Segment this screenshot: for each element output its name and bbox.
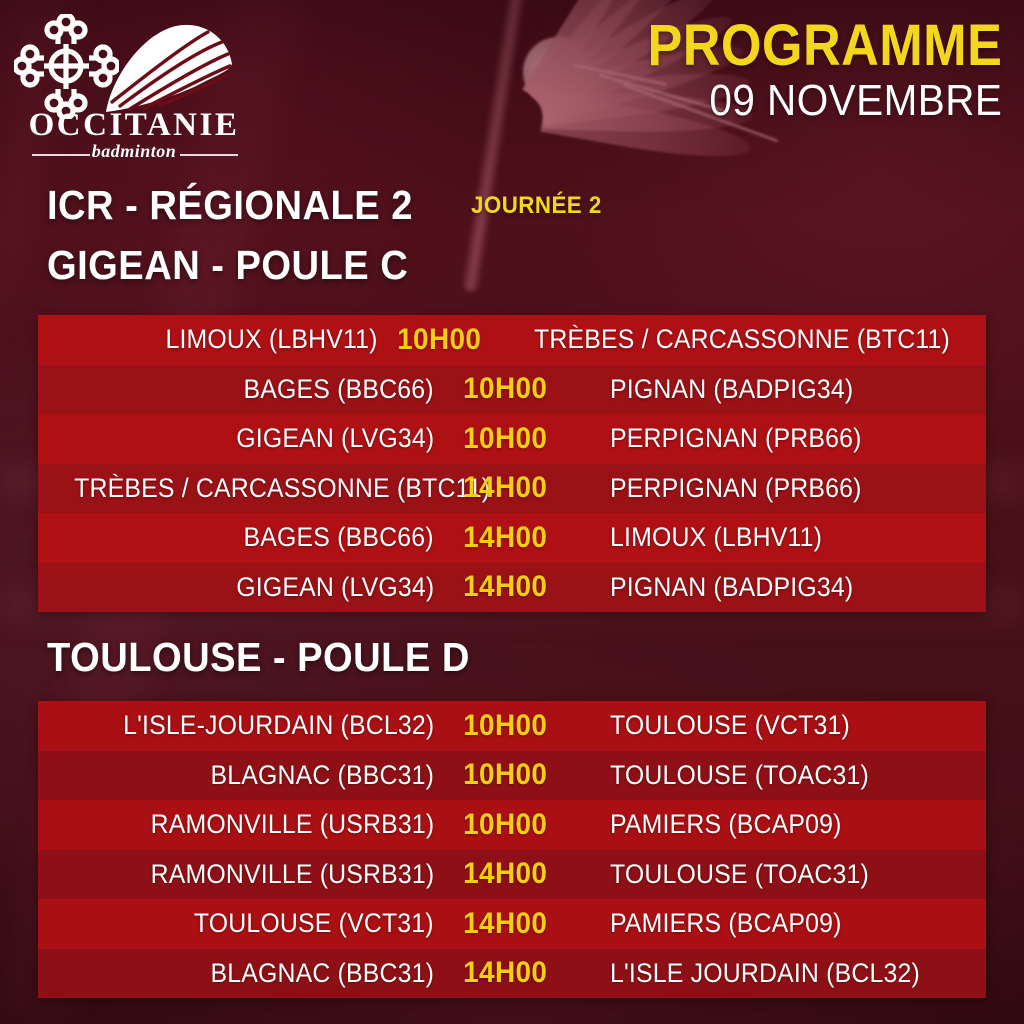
away-team-cell: PERPIGNAN (PRB66) xyxy=(576,423,986,454)
match-row: LIMOUX (LBHV11)10H00TRÈBES / CARCASSONNE… xyxy=(38,315,986,365)
competition-title: ICR - RÉGIONALE 2 xyxy=(47,182,413,229)
home-team-cell: LIMOUX (LBHV11) xyxy=(38,324,378,355)
match-time-cell: 10H00 xyxy=(434,422,576,456)
match-time: 10H00 xyxy=(397,323,481,357)
logo-wordmark: OCCITANIE xyxy=(14,107,254,144)
match-time-cell: 10H00 xyxy=(434,758,576,792)
match-time-cell: 10H00 xyxy=(378,323,500,357)
home-team-name: TRÈBES / CARCASSONNE (BTC11) xyxy=(74,473,490,504)
away-team-name: LIMOUX (LBHV11) xyxy=(610,522,822,553)
home-team-cell: GIGEAN (LVG34) xyxy=(38,572,434,603)
home-team-name: L'ISLE-JOURDAIN (BCL32) xyxy=(123,710,434,741)
match-row: RAMONVILLE (USRB31)14H00TOULOUSE (TOAC31… xyxy=(38,850,986,900)
match-table-poule-c: LIMOUX (LBHV11)10H00TRÈBES / CARCASSONNE… xyxy=(38,315,986,612)
match-row: TOULOUSE (VCT31)14H00PAMIERS (BCAP09) xyxy=(38,899,986,949)
away-team-cell: PERPIGNAN (PRB66) xyxy=(576,473,986,504)
pool-title: TOULOUSE - POULE D xyxy=(47,634,470,681)
match-row: BLAGNAC (BBC31)14H00L'ISLE JOURDAIN (BCL… xyxy=(38,949,986,999)
home-team-name: LIMOUX (LBHV11) xyxy=(166,324,378,355)
away-team-cell: PIGNAN (BADPIG34) xyxy=(576,572,986,603)
home-team-cell: GIGEAN (LVG34) xyxy=(38,423,434,454)
match-row: BAGES (BBC66)14H00LIMOUX (LBHV11) xyxy=(38,513,986,563)
match-time-cell: 14H00 xyxy=(434,907,576,941)
away-team-name: PIGNAN (BADPIG34) xyxy=(610,572,853,603)
home-team-name: BLAGNAC (BBC31) xyxy=(210,760,434,791)
home-team-name: GIGEAN (LVG34) xyxy=(236,572,434,603)
away-team-cell: PAMIERS (BCAP09) xyxy=(576,908,986,939)
away-team-name: PERPIGNAN (PRB66) xyxy=(610,473,862,504)
match-time: 10H00 xyxy=(463,808,547,842)
home-team-name: RAMONVILLE (USRB31) xyxy=(150,859,434,890)
home-team-cell: BLAGNAC (BBC31) xyxy=(38,760,434,791)
match-row: L'ISLE-JOURDAIN (BCL32)10H00TOULOUSE (VC… xyxy=(38,701,986,751)
away-team-cell: TOULOUSE (TOAC31) xyxy=(576,760,986,791)
match-row: BAGES (BBC66)10H00PIGNAN (BADPIG34) xyxy=(38,365,986,415)
home-team-cell: BAGES (BBC66) xyxy=(38,374,434,405)
home-team-cell: RAMONVILLE (USRB31) xyxy=(38,859,434,890)
match-row: GIGEAN (LVG34)10H00PERPIGNAN (PRB66) xyxy=(38,414,986,464)
match-time-cell: 14H00 xyxy=(434,857,576,891)
header-date: 09 NOVEMBRE xyxy=(639,79,1002,123)
away-team-name: TOULOUSE (TOAC31) xyxy=(610,760,869,791)
away-team-name: L'ISLE JOURDAIN (BCL32) xyxy=(610,958,920,989)
match-row: TRÈBES / CARCASSONNE (BTC11)14H00PERPIGN… xyxy=(38,464,986,514)
match-row: RAMONVILLE (USRB31)10H00PAMIERS (BCAP09) xyxy=(38,800,986,850)
away-team-name: PERPIGNAN (PRB66) xyxy=(610,423,862,454)
away-team-cell: LIMOUX (LBHV11) xyxy=(576,522,986,553)
match-time-cell: 14H00 xyxy=(434,956,576,990)
logo-rule-left xyxy=(32,154,90,156)
home-team-cell: L'ISLE-JOURDAIN (BCL32) xyxy=(38,710,434,741)
match-time: 14H00 xyxy=(463,956,547,990)
away-team-cell: TOULOUSE (TOAC31) xyxy=(576,859,986,890)
home-team-cell: TOULOUSE (VCT31) xyxy=(38,908,434,939)
match-time-cell: 10H00 xyxy=(434,372,576,406)
match-time: 14H00 xyxy=(463,857,547,891)
match-time: 14H00 xyxy=(463,570,547,604)
home-team-name: BAGES (BBC66) xyxy=(244,522,434,553)
home-team-cell: BAGES (BBC66) xyxy=(38,522,434,553)
away-team-name: TRÈBES / CARCASSONNE (BTC11) xyxy=(534,324,950,355)
logo-sport-label: badminton xyxy=(14,141,254,162)
home-team-name: BLAGNAC (BBC31) xyxy=(210,958,434,989)
home-team-cell: TRÈBES / CARCASSONNE (BTC11) xyxy=(38,473,434,504)
page-title: PROGRAMME xyxy=(647,18,1002,73)
section-1-pool: GIGEAN - POULE C xyxy=(47,242,435,289)
header: PROGRAMME 09 NOVEMBRE xyxy=(608,18,1002,123)
away-team-cell: TRÈBES / CARCASSONNE (BTC11) xyxy=(500,324,986,355)
away-team-cell: TOULOUSE (VCT31) xyxy=(576,710,986,741)
journee-badge: JOURNÉE 2 xyxy=(471,192,602,220)
away-team-name: TOULOUSE (VCT31) xyxy=(610,710,850,741)
away-team-name: PAMIERS (BCAP09) xyxy=(610,908,842,939)
match-time-cell: 14H00 xyxy=(434,570,576,604)
match-row: GIGEAN (LVG34)14H00PIGNAN (BADPIG34) xyxy=(38,563,986,613)
match-time: 14H00 xyxy=(463,521,547,555)
section-1-heading: ICR - RÉGIONALE 2 JOURNÉE 2 xyxy=(47,182,611,229)
pool-title: GIGEAN - POULE C xyxy=(47,242,408,289)
section-2-pool: TOULOUSE - POULE D xyxy=(47,634,502,681)
match-time-cell: 14H00 xyxy=(434,521,576,555)
home-team-cell: RAMONVILLE (USRB31) xyxy=(38,809,434,840)
match-time: 14H00 xyxy=(463,471,547,505)
home-team-name: TOULOUSE (VCT31) xyxy=(194,908,434,939)
away-team-cell: PIGNAN (BADPIG34) xyxy=(576,374,986,405)
match-time-cell: 10H00 xyxy=(434,808,576,842)
match-time: 10H00 xyxy=(463,758,547,792)
match-time: 14H00 xyxy=(463,907,547,941)
home-team-name: BAGES (BBC66) xyxy=(244,374,434,405)
match-time: 10H00 xyxy=(463,372,547,406)
home-team-name: RAMONVILLE (USRB31) xyxy=(150,809,434,840)
match-time: 10H00 xyxy=(463,709,547,743)
logo-rule-right xyxy=(180,154,238,156)
match-time-cell: 10H00 xyxy=(434,709,576,743)
home-team-name: GIGEAN (LVG34) xyxy=(236,423,434,454)
away-team-name: PIGNAN (BADPIG34) xyxy=(610,374,853,405)
away-team-cell: L'ISLE JOURDAIN (BCL32) xyxy=(576,958,986,989)
away-team-name: PAMIERS (BCAP09) xyxy=(610,809,842,840)
occitanie-badminton-logo: OCCITANIE badminton xyxy=(8,8,256,160)
match-time: 10H00 xyxy=(463,422,547,456)
away-team-name: TOULOUSE (TOAC31) xyxy=(610,859,869,890)
away-team-cell: PAMIERS (BCAP09) xyxy=(576,809,986,840)
match-table-poule-d: L'ISLE-JOURDAIN (BCL32)10H00TOULOUSE (VC… xyxy=(38,701,986,998)
match-row: BLAGNAC (BBC31)10H00TOULOUSE (TOAC31) xyxy=(38,751,986,801)
home-team-cell: BLAGNAC (BBC31) xyxy=(38,958,434,989)
shuttlecock-icon xyxy=(104,16,234,121)
